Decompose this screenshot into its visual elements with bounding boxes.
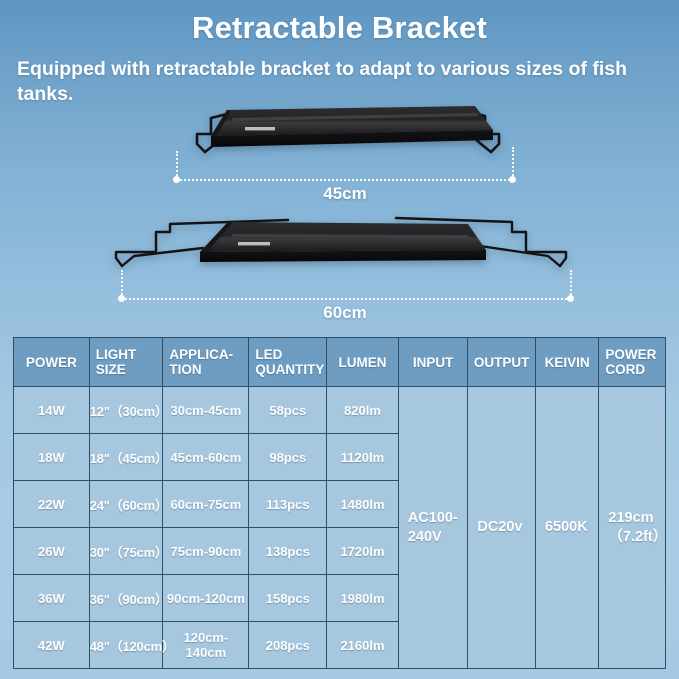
led-light-bar-retracted <box>175 100 520 160</box>
cell-light-size: 36"（90cm） <box>89 575 163 622</box>
cell-input: AC100-240V <box>398 387 468 669</box>
cell-power: 14W <box>14 387 90 434</box>
dimension-endpoint-right <box>509 176 516 183</box>
dimension-tick-right <box>512 147 515 179</box>
dimension-tick-right <box>570 270 573 298</box>
cell-lumen: 1980lm <box>327 575 399 622</box>
column-header-power-cord: POWER CORD <box>599 338 666 387</box>
dimension-line-45cm <box>177 179 513 182</box>
cell-power: 36W <box>14 575 90 622</box>
header-line: APPLICA- <box>169 347 233 362</box>
dimension-tick-left <box>176 151 179 179</box>
cell-application: 60cm-75cm <box>163 481 249 528</box>
header-line: KEIVIN <box>545 355 590 370</box>
header-line: SIZE <box>96 362 126 377</box>
cell-lumen: 2160lm <box>327 622 399 669</box>
specifications-table: POWER LIGHT SIZE APPLICA- TION LED QUANT… <box>13 337 666 669</box>
dimension-label-45cm: 45cm <box>275 184 415 204</box>
dimension-line-60cm <box>122 298 571 301</box>
led-light-bar-extended <box>108 210 578 276</box>
cell-power: 18W <box>14 434 90 481</box>
table-row: 14W 12"（30cm） 30cm-45cm 58pcs 820lm AC10… <box>14 387 666 434</box>
cell-power: 26W <box>14 528 90 575</box>
column-header-lumen: LUMEN <box>327 338 399 387</box>
column-header-input: INPUT <box>398 338 468 387</box>
column-header-led-quantity: LED QUANTITY <box>249 338 327 387</box>
cell-led-quantity: 158pcs <box>249 575 327 622</box>
cell-lumen: 820lm <box>327 387 399 434</box>
cell-led-quantity: 98pcs <box>249 434 327 481</box>
table-header-row: POWER LIGHT SIZE APPLICA- TION LED QUANT… <box>14 338 666 387</box>
cell-led-quantity: 113pcs <box>249 481 327 528</box>
page-title: Retractable Bracket <box>0 10 679 46</box>
dimension-endpoint-left <box>173 176 180 183</box>
figure-bracket-extended: 60cm <box>0 208 679 323</box>
column-header-power: POWER <box>14 338 90 387</box>
cell-power: 22W <box>14 481 90 528</box>
column-header-output: OUTPUT <box>468 338 536 387</box>
dimension-label-60cm: 60cm <box>275 303 415 323</box>
header-line: POWER <box>605 347 656 362</box>
header-line: LUMEN <box>338 355 386 370</box>
cell-power: 42W <box>14 622 90 669</box>
figure-bracket-retracted: 45cm <box>0 95 679 200</box>
cell-led-quantity: 138pcs <box>249 528 327 575</box>
header-line: QUANTITY <box>255 362 324 377</box>
column-header-keivin: KEIVIN <box>535 338 598 387</box>
cell-light-size: 18"（45cm） <box>89 434 163 481</box>
header-line: POWER <box>26 355 77 370</box>
cell-light-size: 24"（60cm） <box>89 481 163 528</box>
dimension-tick-left <box>121 270 124 298</box>
cell-lumen: 1720lm <box>327 528 399 575</box>
cell-light-size: 48"（120cm） <box>89 622 163 669</box>
cell-output: DC20v <box>468 387 536 669</box>
dimension-endpoint-right <box>567 295 574 302</box>
header-line: CORD <box>605 362 645 377</box>
dimension-endpoint-left <box>118 295 125 302</box>
cell-application: 90cm-120cm <box>163 575 249 622</box>
header-line: LED <box>255 347 282 362</box>
cell-application: 30cm-45cm <box>163 387 249 434</box>
cell-led-quantity: 208pcs <box>249 622 327 669</box>
cell-application: 75cm-90cm <box>163 528 249 575</box>
header-line: INPUT <box>413 355 454 370</box>
column-header-light-size: LIGHT SIZE <box>89 338 163 387</box>
cell-light-size: 30"（75cm） <box>89 528 163 575</box>
cell-light-size: 12"（30cm） <box>89 387 163 434</box>
cell-led-quantity: 58pcs <box>249 387 327 434</box>
cell-application: 120cm-140cm <box>163 622 249 669</box>
header-line: OUTPUT <box>474 355 530 370</box>
column-header-application: APPLICA- TION <box>163 338 249 387</box>
cell-power-cord: 219cm（7.2ft） <box>599 387 666 669</box>
cell-application: 45cm-60cm <box>163 434 249 481</box>
cell-lumen: 1120lm <box>327 434 399 481</box>
cell-lumen: 1480lm <box>327 481 399 528</box>
header-line: LIGHT <box>96 347 137 362</box>
infographic-page: Retractable Bracket Equipped with retrac… <box>0 0 679 679</box>
header-line: TION <box>169 362 201 377</box>
cell-keivin: 6500K <box>535 387 598 669</box>
